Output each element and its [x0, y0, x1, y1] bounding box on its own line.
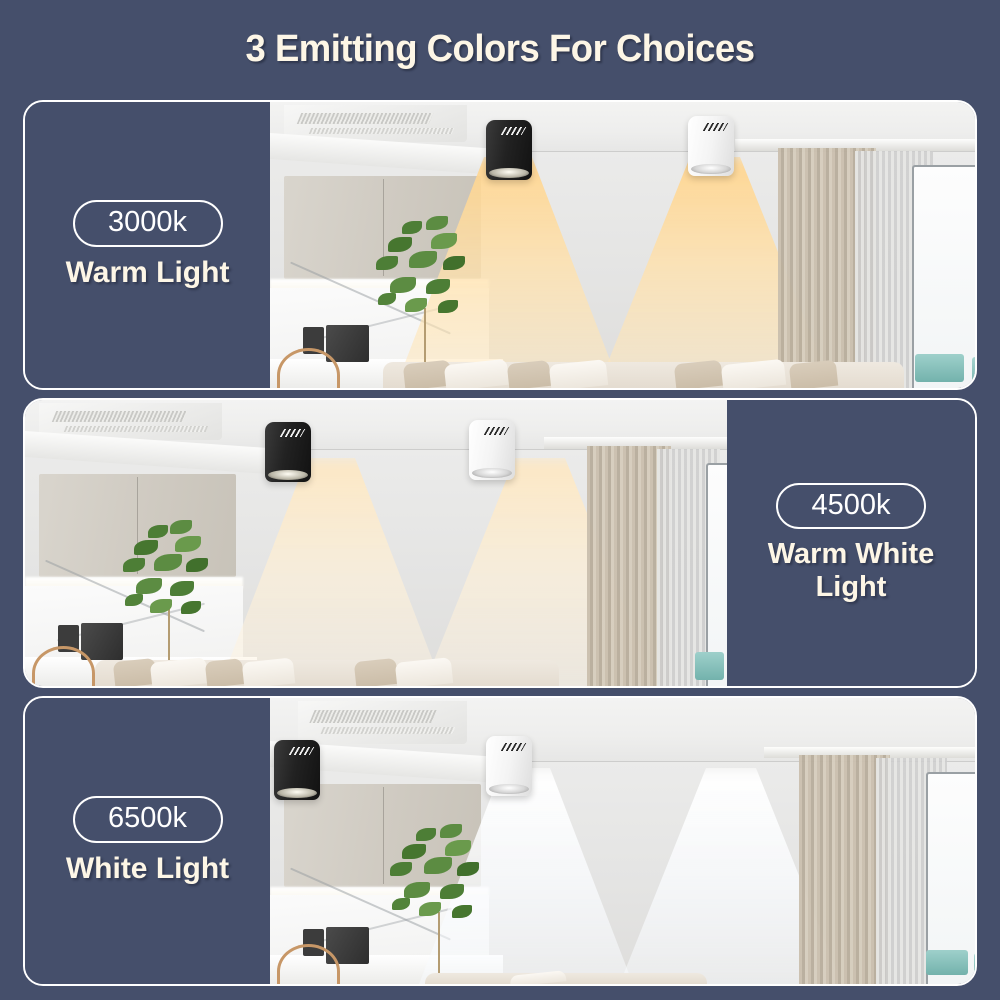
lamp-lens — [489, 784, 529, 794]
surface-downlight-black — [265, 422, 311, 482]
room-photo-6500k — [270, 698, 975, 984]
plant-foliage — [383, 824, 503, 936]
temperature-pill-3000k: 3000k — [73, 200, 223, 246]
interior-scene — [25, 400, 727, 686]
teal-containers — [695, 652, 723, 681]
temperature-pill-4500k: 4500k — [776, 483, 926, 529]
sofa — [95, 660, 558, 686]
temperature-label-4500k: Warm White Light — [768, 538, 934, 604]
ceiling-air-vent-icon — [298, 701, 467, 744]
surface-downlight-black — [486, 120, 532, 180]
ficus-plant — [383, 824, 503, 984]
page-title: 3 Emitting Colors For Choices — [20, 28, 980, 71]
surface-downlight-black — [274, 740, 320, 800]
temperature-label-line1: Warm White — [768, 538, 934, 571]
promo-page: 3 Emitting Colors For Choices 3000k Warm… — [0, 0, 1000, 1000]
vent-slashes-icon — [500, 127, 526, 135]
temperature-label-line2: Light — [768, 571, 934, 604]
ficus-plant — [116, 520, 228, 680]
label-panel-3000k: 3000k Warm Light — [25, 102, 270, 388]
lamp-lens — [489, 168, 529, 178]
color-temperature-card-6500k[interactable]: 6500k White Light — [23, 696, 977, 986]
lamp-lens — [472, 468, 512, 478]
color-temperature-card-4500k[interactable]: 4500k Warm White Light — [23, 398, 977, 688]
vent-slashes-icon — [288, 747, 314, 755]
surface-downlight-white — [469, 420, 515, 480]
temperature-label-3000k: Warm Light — [66, 256, 230, 290]
interior-scene — [270, 102, 975, 388]
interior-scene — [270, 698, 975, 984]
ficus-plant — [369, 216, 489, 382]
temperature-pill-6500k: 6500k — [73, 796, 223, 842]
surface-downlight-white — [688, 116, 734, 176]
lamp-lens — [268, 470, 308, 480]
sofa — [383, 362, 905, 388]
sofa — [425, 973, 707, 984]
room-photo-3000k — [270, 102, 975, 388]
lamp-lens — [691, 164, 731, 174]
vent-slashes-icon — [279, 429, 305, 437]
coffee-machine — [326, 325, 368, 362]
plant-foliage — [116, 520, 228, 632]
plant-foliage — [369, 216, 489, 332]
teal-containers — [915, 354, 964, 383]
vent-slashes-icon — [702, 123, 728, 131]
surface-downlight-white — [486, 736, 532, 796]
vent-slashes-icon — [500, 743, 526, 751]
lamp-lens — [277, 788, 317, 798]
label-panel-4500k: 4500k Warm White Light — [727, 400, 975, 686]
vent-slashes-icon — [483, 427, 509, 435]
room-photo-4500k — [25, 400, 727, 686]
label-panel-6500k: 6500k White Light — [25, 698, 270, 984]
teal-containers — [926, 950, 968, 976]
temperature-label-6500k: White Light — [66, 852, 229, 886]
color-temperature-card-3000k[interactable]: 3000k Warm Light — [23, 100, 977, 390]
